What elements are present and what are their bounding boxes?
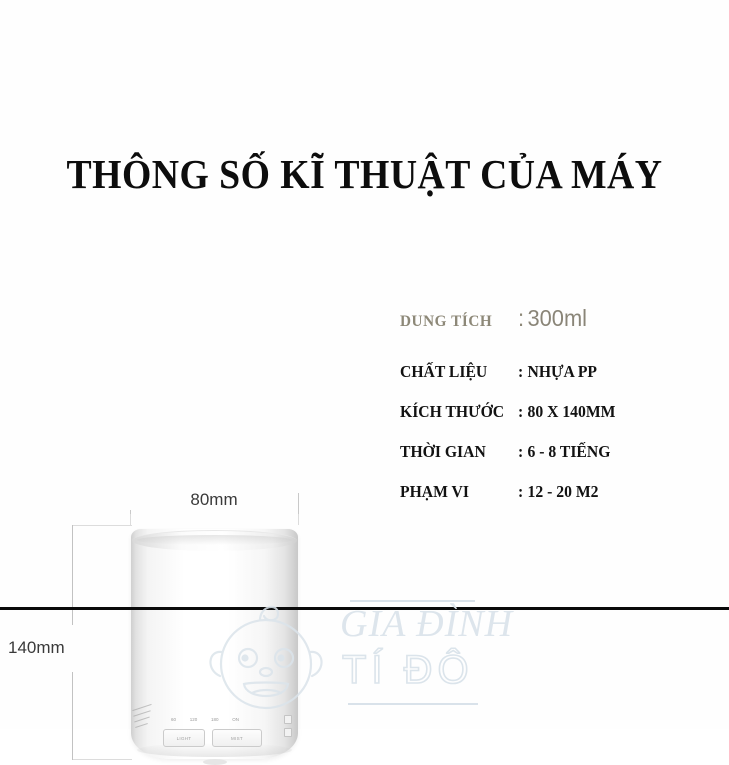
- device-button-row: LIGHT MIST: [163, 729, 268, 747]
- page-title: THÔNG SỐ KĨ THUẬT CỦA MÁY: [29, 150, 700, 198]
- spec-value-size: :80 X 140MM: [518, 402, 615, 422]
- spec-list: DUNG TÍCH :300ml CHẤT LIỆU :NHỰA PP KÍCH…: [400, 305, 700, 522]
- spec-value-material: :NHỰA PP: [518, 362, 597, 382]
- device-vent-slits: [132, 705, 154, 731]
- product-spec-page: THÔNG SỐ KĨ THUẬT CỦA MÁY 80mm 140mm: [0, 0, 729, 729]
- indicator-icon-upper: [284, 715, 292, 724]
- spec-value-text: NHỰA PP: [528, 362, 598, 381]
- spec-colon: :: [518, 442, 528, 462]
- spec-label-size: KÍCH THƯỚC: [400, 402, 512, 422]
- timer-mark: ON: [232, 717, 239, 722]
- extension-line-left-top: [72, 525, 132, 526]
- watermark: GIA ĐÌNH TÍ ĐÔ: [0, 596, 729, 729]
- dimension-line-height-upper: [72, 525, 73, 625]
- dimension-line-height-lower: [72, 672, 73, 760]
- extension-line-left-bottom: [72, 759, 132, 760]
- spec-colon: :: [518, 305, 528, 332]
- watermark-line-2: TÍ ĐÔ: [342, 648, 474, 693]
- spec-value-text: 80 X 140MM: [528, 402, 616, 421]
- dimension-label-height: 140mm: [8, 638, 108, 658]
- spec-value-runtime: :6 - 8 TIẾNG: [518, 442, 610, 462]
- spec-row-capacity: DUNG TÍCH :300ml: [400, 305, 700, 332]
- spec-value-text: 6 - 8 TIẾNG: [528, 442, 611, 461]
- spec-row-runtime: THỜI GIAN :6 - 8 TIẾNG: [400, 442, 700, 462]
- dimension-tick-right: [298, 493, 299, 514]
- dimension-label-width: 80mm: [130, 490, 298, 510]
- timer-mark: 60: [171, 717, 176, 722]
- watermark-rule-bottom: [348, 703, 478, 705]
- device-body: 60 120 180 ON LIGHT MIST: [131, 529, 298, 759]
- spec-label-material: CHẤT LIỆU: [400, 362, 512, 382]
- spec-value-capacity: :300ml: [518, 305, 587, 332]
- spec-label-runtime: THỜI GIAN: [400, 442, 512, 462]
- mist-button[interactable]: MIST: [212, 729, 262, 747]
- divider-rule: [0, 607, 729, 610]
- watermark-text: GIA ĐÌNH TÍ ĐÔ: [330, 596, 660, 721]
- watermark-rule-top: [350, 600, 475, 602]
- indicator-icon-lower: [284, 728, 292, 737]
- spec-row-size: KÍCH THƯỚC :80 X 140MM: [400, 402, 700, 422]
- spec-colon: :: [518, 402, 528, 422]
- spec-label-capacity: DUNG TÍCH: [400, 313, 512, 331]
- timer-markings: 60 120 180 ON: [171, 717, 239, 722]
- spec-colon: :: [518, 362, 528, 382]
- device-indicator-icons: [284, 715, 292, 741]
- timer-mark: 120: [190, 717, 198, 722]
- device-bottom-nub: [203, 759, 227, 765]
- humidifier-device: 60 120 180 ON LIGHT MIST: [131, 521, 298, 761]
- spec-value-coverage: :12 - 20 M2: [518, 482, 598, 502]
- spec-row-coverage: PHẠM VI :12 - 20 M2: [400, 482, 700, 502]
- spec-label-coverage: PHẠM VI: [400, 482, 512, 502]
- spec-colon: :: [518, 482, 528, 502]
- spec-value-text: 300ml: [528, 305, 588, 331]
- light-button[interactable]: LIGHT: [163, 729, 205, 747]
- device-inner-shadow: [137, 535, 292, 545]
- spec-row-material: CHẤT LIỆU :NHỰA PP: [400, 362, 700, 382]
- spec-value-text: 12 - 20 M2: [528, 482, 599, 501]
- timer-mark: 180: [211, 717, 219, 722]
- product-illustration: 80mm 140mm 60: [0, 235, 360, 565]
